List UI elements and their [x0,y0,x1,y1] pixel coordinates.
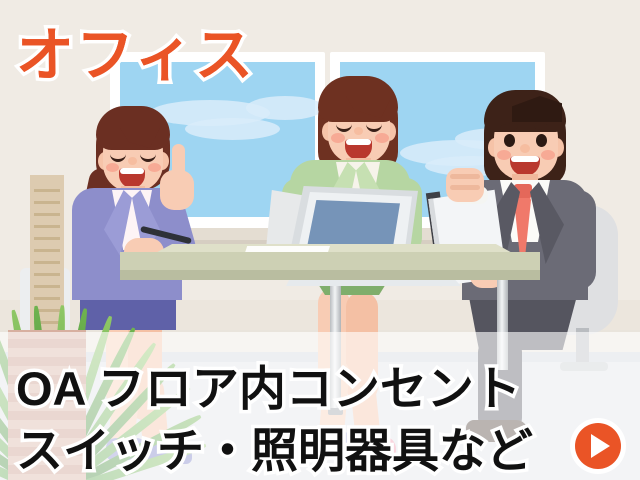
center-woman-blush-left [331,133,345,143]
man-teeth [511,156,539,162]
left-woman-blush-right [148,163,161,172]
man-blush-left [497,150,511,160]
left-woman-blush-left [106,163,119,172]
center-woman-nose [354,127,363,135]
man-eye-right [536,134,547,147]
cloud-shape [246,96,324,120]
caption-line-2: スイッチ・照明器具など [16,412,533,480]
caption-line-1: OA フロア内コンセント [16,350,521,419]
table-edge [120,270,540,280]
left-woman-index-finger [172,144,185,180]
cloud-shape [185,118,280,140]
center-woman-blush-right [375,133,389,143]
man-blush-right [541,150,555,160]
left-woman-nose [128,157,137,165]
office-banner-image: オフィス オフィス OA フロア内コンセント OA フロア内コンセント スイッチ… [0,0,640,480]
page-title: オフィス [16,8,255,92]
play-triangle-icon[interactable] [591,434,610,458]
man-knuckle-line [450,185,480,190]
man-nose [520,144,530,153]
man-eye-left [504,134,515,147]
man-knuckle-line [450,174,480,179]
left-woman-teeth [120,168,144,174]
center-woman-teeth [346,139,371,145]
